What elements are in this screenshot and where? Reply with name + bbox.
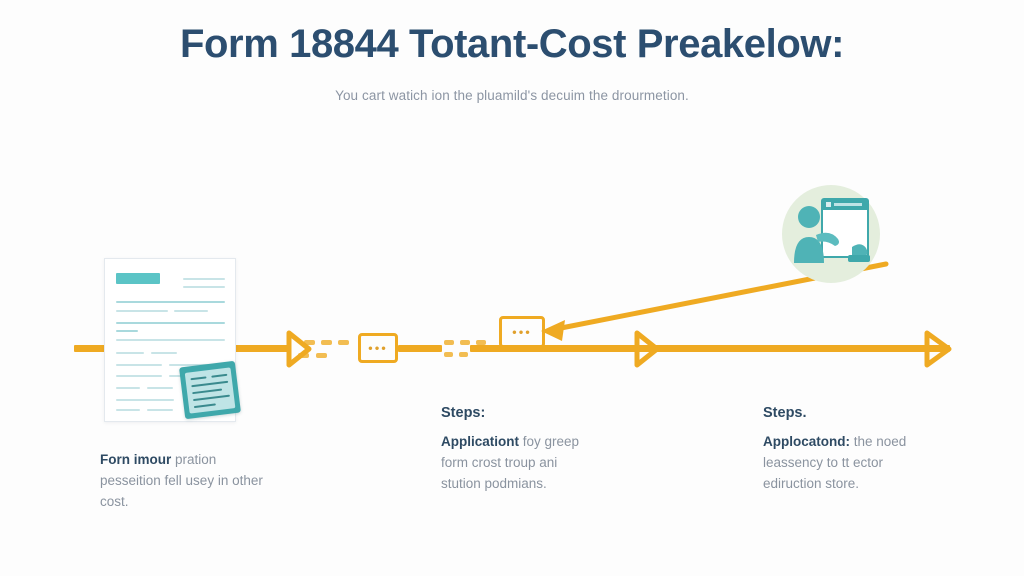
node-box-2-dots: •••	[502, 326, 542, 339]
caption-block-3: Applocatond: the noed leassency to tt ec…	[763, 432, 915, 495]
timeline-rail-segment-2	[398, 345, 442, 352]
infographic-canvas: Form 18844 Totant-Cost Preakelow: You ca…	[0, 0, 1024, 576]
caption-3-lead: Applocatond:	[763, 434, 850, 449]
caption-1-lead: Forn imour	[100, 452, 171, 467]
caption-block-1: Forn imour pration pesseition fell usey …	[100, 450, 270, 513]
dashed-connector-mid-lower	[444, 352, 490, 357]
page-subtitle: You cart watich ion the pluamild's decui…	[0, 88, 1024, 103]
caption-3-heading: Steps.	[763, 405, 807, 421]
dashed-connector-upper	[304, 340, 358, 345]
node-box-1-dots: •••	[361, 342, 395, 355]
caption-block-2: Applicationt foy greep form crost troup …	[441, 432, 583, 495]
form-document-illustration	[104, 258, 234, 420]
sticky-note	[179, 361, 241, 419]
document-header-bar	[116, 273, 160, 284]
node-box-1[interactable]: •••	[358, 333, 398, 363]
dashed-connector-mid-upper	[440, 340, 500, 345]
sticky-note-inner	[185, 367, 236, 413]
person-illustration	[782, 185, 880, 283]
node-box-2[interactable]: •••	[499, 316, 545, 348]
caption-2-lead: Applicationt	[441, 434, 519, 449]
page-title: Form 18844 Totant-Cost Preakelow:	[0, 22, 1024, 67]
caption-2-heading: Steps:	[441, 405, 485, 421]
